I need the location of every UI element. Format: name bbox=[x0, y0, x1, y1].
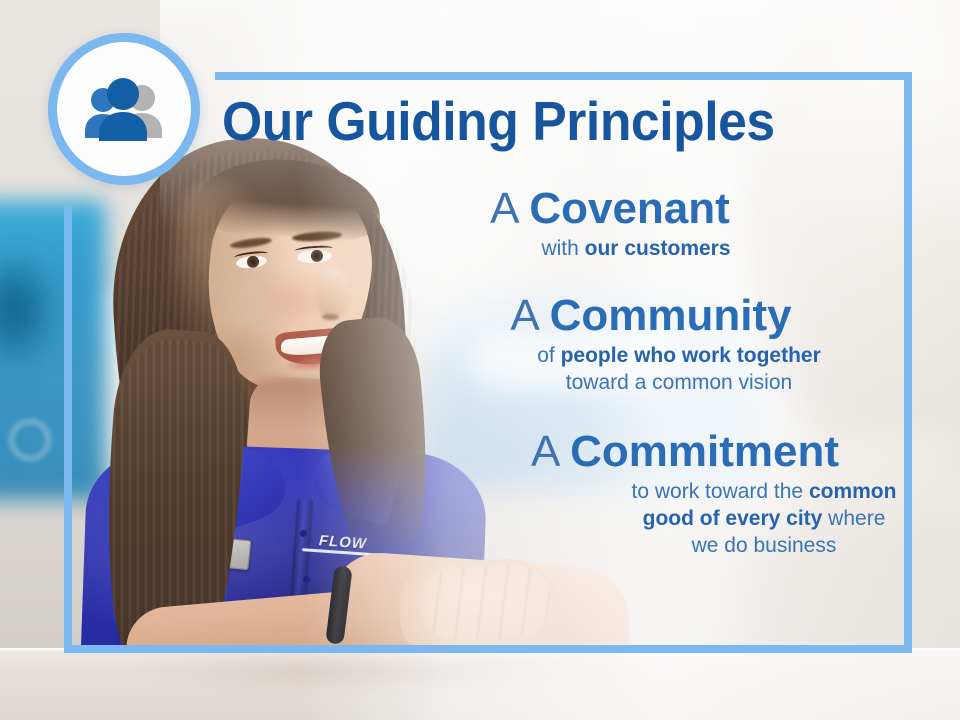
principle-community: A Community of people who work together … bbox=[426, 293, 876, 397]
principle-covenant-heading: A Covenant bbox=[344, 186, 876, 232]
principle-community-article: A bbox=[510, 291, 537, 340]
associate-fingers bbox=[418, 563, 554, 644]
principle-community-subline: of people who work together bbox=[482, 343, 876, 370]
subline-text-bold: good of every city bbox=[643, 507, 823, 530]
principle-commitment: A Commitment to work toward the common g… bbox=[494, 429, 876, 560]
principle-commitment-heading: A Commitment bbox=[494, 429, 876, 475]
principle-commitment-subline: to work toward the common bbox=[564, 479, 960, 506]
principle-community-subtext: of people who work together toward a com… bbox=[482, 343, 876, 397]
subline-text: with bbox=[541, 237, 584, 260]
page-title: Our Guiding Principles bbox=[222, 94, 824, 149]
subline-text-bold: common bbox=[809, 480, 897, 503]
blurred-vw-logo bbox=[10, 420, 50, 460]
subline-text: we do business bbox=[692, 534, 837, 557]
subline-text-bold: people who work together bbox=[561, 344, 821, 367]
principle-community-subline: toward a common vision bbox=[482, 370, 876, 397]
table-reflection bbox=[120, 652, 640, 690]
frame-border-top bbox=[215, 72, 912, 80]
subline-text: to work toward the bbox=[632, 480, 809, 503]
blurred-vehicle-shadow bbox=[0, 250, 60, 370]
principle-covenant-subline: with our customers bbox=[396, 236, 876, 263]
associate-shirt-button bbox=[303, 576, 310, 583]
principle-commitment-subline: good of every city where bbox=[564, 506, 960, 533]
principle-covenant-keyword: Covenant bbox=[529, 184, 729, 233]
principle-community-keyword: Community bbox=[550, 291, 792, 340]
frame-border-right bbox=[904, 72, 912, 653]
subline-text-bold: our customers bbox=[585, 237, 731, 260]
principle-covenant-article: A bbox=[490, 184, 517, 233]
principle-covenant: A Covenant with our customers bbox=[344, 186, 876, 263]
frame-border-left bbox=[64, 205, 72, 653]
people-group-icon-badge bbox=[48, 33, 200, 185]
principle-commitment-keyword: Commitment bbox=[570, 427, 839, 476]
principle-commitment-subline: we do business bbox=[564, 533, 960, 560]
principle-commitment-subtext: to work toward the common good of every … bbox=[564, 479, 960, 560]
principle-community-heading: A Community bbox=[426, 293, 876, 339]
subline-text: where bbox=[822, 507, 885, 530]
subline-text: of bbox=[537, 344, 560, 367]
poster-canvas: FLOW FLOW AUTOMOTIVE bbox=[0, 0, 960, 720]
principle-commitment-article: A bbox=[531, 427, 558, 476]
principles-list: A Covenant with our customers A Communit… bbox=[330, 186, 876, 560]
people-group-icon bbox=[76, 77, 172, 141]
subline-text: toward a common vision bbox=[566, 371, 792, 394]
principle-covenant-subtext: with our customers bbox=[396, 236, 876, 263]
frame-border-bottom bbox=[64, 645, 912, 653]
